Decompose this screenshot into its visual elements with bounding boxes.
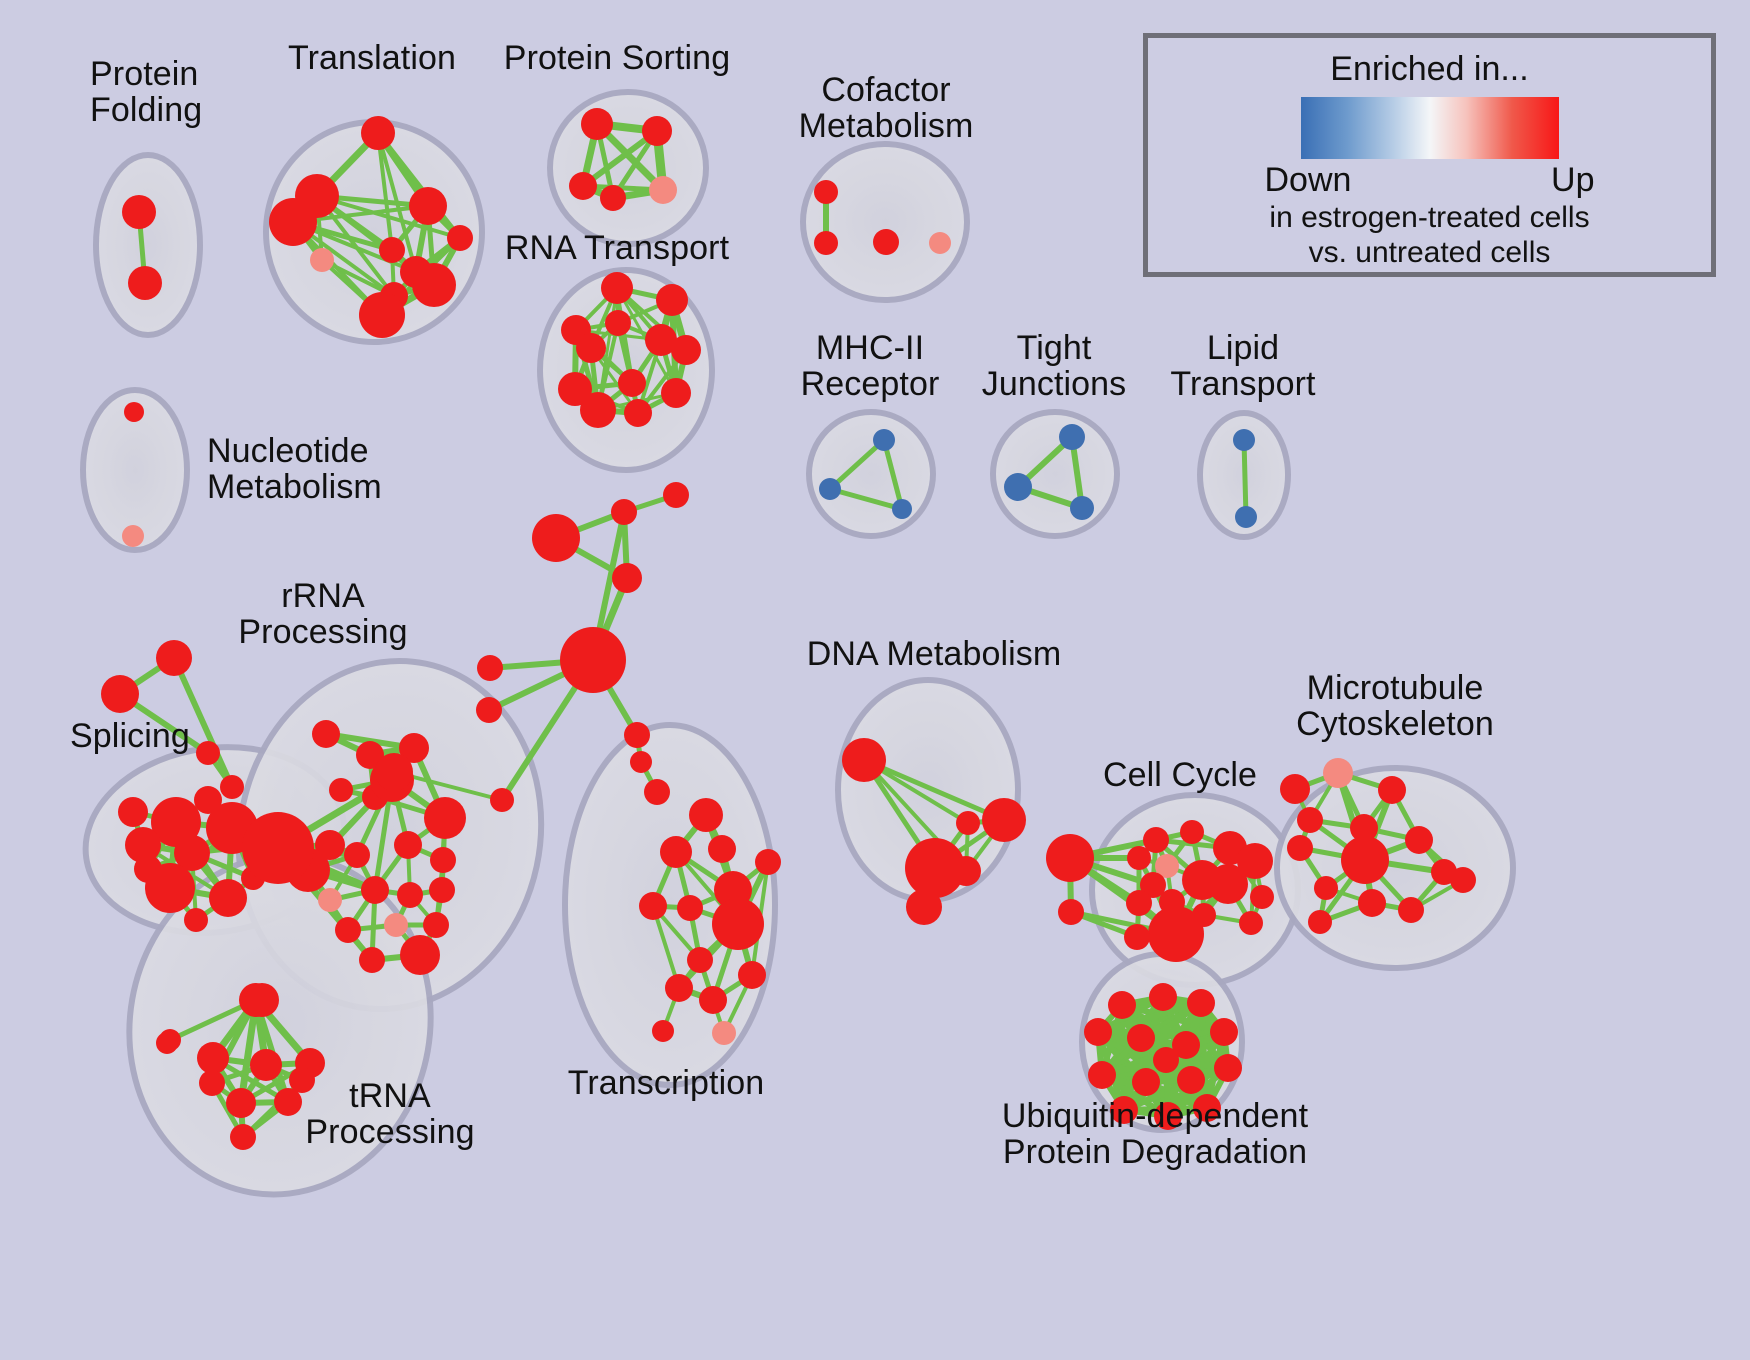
gene-set-node[interactable] (476, 697, 502, 723)
gene-set-node[interactable] (359, 947, 385, 973)
legend-caption-line-1: in estrogen-treated cells (1269, 201, 1589, 235)
cluster-ellipse-protein-folding[interactable] (96, 155, 200, 335)
gene-set-node[interactable] (447, 225, 473, 251)
gene-set-node[interactable] (245, 983, 279, 1017)
gene-set-node[interactable] (412, 263, 456, 307)
gene-set-node[interactable] (906, 889, 942, 925)
cluster-label-microtubule-cytoskeleton: Microtubule Cytoskeleton (1296, 670, 1494, 742)
gene-set-node[interactable] (1378, 776, 1406, 804)
gene-set-node[interactable] (1088, 1061, 1116, 1089)
gene-set-node[interactable] (1084, 1018, 1112, 1046)
gene-set-node[interactable] (1127, 846, 1151, 870)
gene-set-node[interactable] (359, 292, 405, 338)
gene-set-node[interactable] (329, 778, 353, 802)
gene-set-node[interactable] (1250, 885, 1274, 909)
gene-set-node[interactable] (982, 798, 1026, 842)
gene-set-node[interactable] (560, 627, 626, 693)
legend-high-label: Up (1551, 161, 1594, 200)
gene-set-node[interactable] (209, 879, 247, 917)
gene-set-node[interactable] (956, 811, 980, 835)
gene-set-node[interactable] (532, 514, 580, 562)
cluster-ellipse-tight-junctions[interactable] (993, 412, 1117, 536)
gene-set-node[interactable] (361, 876, 389, 904)
gene-set-node[interactable] (312, 720, 340, 748)
gene-set-node[interactable] (656, 284, 688, 316)
gene-set-node[interactable] (814, 180, 838, 204)
gene-set-node[interactable] (1233, 429, 1255, 451)
gene-set-node[interactable] (184, 908, 208, 932)
gene-set-node[interactable] (630, 751, 652, 773)
gene-set-node[interactable] (605, 310, 631, 336)
gene-set-node[interactable] (400, 935, 440, 975)
gene-set-node[interactable] (660, 836, 692, 868)
cluster-label-protein-folding: Protein Folding (90, 56, 202, 128)
gene-set-node[interactable] (1180, 820, 1204, 844)
gene-set-node[interactable] (344, 842, 370, 868)
gene-set-node[interactable] (1235, 506, 1257, 528)
cluster-label-cell-cycle: Cell Cycle (1103, 757, 1257, 793)
gene-set-node[interactable] (1108, 991, 1136, 1019)
gene-set-node[interactable] (699, 986, 727, 1014)
gene-set-node[interactable] (318, 888, 342, 912)
gene-set-node[interactable] (430, 847, 456, 873)
gene-set-node[interactable] (1177, 1066, 1205, 1094)
gene-set-node[interactable] (156, 1032, 178, 1054)
gene-set-node[interactable] (375, 753, 413, 791)
gene-set-node[interactable] (1208, 864, 1248, 904)
gene-set-node[interactable] (576, 333, 606, 363)
gene-set-node[interactable] (738, 961, 766, 989)
gene-set-node[interactable] (122, 195, 156, 229)
gene-set-node[interactable] (689, 798, 723, 832)
cluster-label-nucleotide-metabolism: Nucleotide Metabolism (207, 433, 382, 505)
cluster-label-cofactor-metabolism: Cofactor Metabolism (799, 72, 974, 144)
gene-set-node[interactable] (250, 1049, 282, 1081)
gene-set-node[interactable] (1287, 835, 1313, 861)
gene-set-node[interactable] (101, 675, 139, 713)
gene-set-node[interactable] (618, 369, 646, 397)
gene-set-node[interactable] (269, 198, 317, 246)
gene-set-node[interactable] (1124, 924, 1150, 950)
gene-set-node[interactable] (1323, 758, 1353, 788)
gene-set-node[interactable] (708, 835, 736, 863)
gene-set-node[interactable] (1239, 911, 1263, 935)
cluster-label-mhc-ii-receptor: MHC-II Receptor (801, 330, 940, 402)
gene-set-node[interactable] (951, 856, 981, 886)
gene-set-node[interactable] (1059, 424, 1085, 450)
gene-set-node[interactable] (665, 974, 693, 1002)
gene-set-node[interactable] (1214, 1054, 1242, 1082)
gene-set-node[interactable] (652, 1020, 674, 1042)
cluster-label-dna-metabolism: DNA Metabolism (807, 636, 1062, 672)
cluster-label-trna-processing: tRNA Processing (305, 1078, 474, 1150)
gene-set-node[interactable] (601, 272, 633, 304)
gene-set-node[interactable] (1126, 890, 1152, 916)
cluster-label-protein-sorting: Protein Sorting (504, 40, 730, 76)
gene-set-node[interactable] (1046, 834, 1094, 882)
gene-set-node[interactable] (124, 402, 144, 422)
cluster-ellipse-mhc-ii-receptor[interactable] (809, 412, 933, 536)
cluster-label-rna-transport: RNA Transport (505, 230, 729, 266)
gene-set-node[interactable] (663, 482, 689, 508)
gene-set-node[interactable] (122, 525, 144, 547)
gene-set-node[interactable] (1450, 867, 1476, 893)
gene-set-node[interactable] (819, 478, 841, 500)
gene-set-node[interactable] (642, 116, 672, 146)
gene-set-node[interactable] (397, 882, 423, 908)
gene-set-node[interactable] (649, 176, 677, 204)
legend-bar-endpoints: Down Up (1265, 161, 1595, 200)
gene-set-node[interactable] (929, 232, 951, 254)
cluster-ellipse-protein-sorting[interactable] (550, 92, 706, 244)
legend-low-label: Down (1265, 161, 1352, 200)
gene-set-node[interactable] (1308, 910, 1332, 934)
gene-set-node[interactable] (1398, 897, 1424, 923)
gene-set-node[interactable] (1187, 989, 1215, 1017)
gene-set-node[interactable] (429, 877, 455, 903)
cluster-label-splicing: Splicing (70, 718, 190, 754)
gene-set-node[interactable] (580, 392, 616, 428)
gene-set-node[interactable] (424, 797, 466, 839)
gene-set-node[interactable] (490, 788, 514, 812)
gene-set-node[interactable] (226, 1088, 256, 1118)
gene-set-node[interactable] (379, 237, 405, 263)
gene-set-node[interactable] (199, 1070, 225, 1096)
gene-set-node[interactable] (196, 741, 220, 765)
gene-set-node[interactable] (1358, 889, 1386, 917)
gene-set-node[interactable] (1004, 473, 1032, 501)
gene-set-node[interactable] (134, 855, 162, 883)
enrichment-network-figure: Protein FoldingTranslationProtein Sortin… (0, 0, 1750, 1360)
cluster-label-ubiquitin-protein-degradation: Ubiquitin-dependent Protein Degradation (1002, 1098, 1308, 1170)
gene-set-node[interactable] (242, 812, 314, 884)
cluster-label-lipid-transport: Lipid Transport (1170, 330, 1315, 402)
gene-set-node[interactable] (361, 116, 395, 150)
gene-set-node[interactable] (1297, 807, 1323, 833)
gene-set-node[interactable] (842, 738, 886, 782)
gene-set-node[interactable] (1148, 906, 1204, 962)
gene-set-node[interactable] (661, 378, 691, 408)
gene-set-node[interactable] (1058, 899, 1084, 925)
gene-set-node[interactable] (873, 229, 899, 255)
gene-set-node[interactable] (612, 563, 642, 593)
gene-set-node[interactable] (409, 187, 447, 225)
gene-set-node[interactable] (220, 775, 244, 799)
gene-set-node[interactable] (423, 912, 449, 938)
gene-set-node[interactable] (156, 640, 192, 676)
gene-set-node[interactable] (624, 399, 652, 427)
gene-set-node[interactable] (624, 722, 650, 748)
gene-set-node[interactable] (581, 108, 613, 140)
gene-set-node[interactable] (639, 892, 667, 920)
legend-box: Enriched in... Down Up in estrogen-treat… (1143, 33, 1716, 277)
gene-set-node[interactable] (611, 499, 637, 525)
gene-set-node[interactable] (1405, 826, 1433, 854)
gene-set-node[interactable] (477, 655, 503, 681)
gene-set-node[interactable] (814, 231, 838, 255)
gene-set-node[interactable] (310, 248, 334, 272)
gene-set-node[interactable] (600, 185, 626, 211)
cluster-label-tight-junctions: Tight Junctions (982, 330, 1127, 402)
gene-set-node[interactable] (1341, 836, 1389, 884)
gene-set-node[interactable] (687, 947, 713, 973)
gene-set-node[interactable] (873, 429, 895, 451)
gene-set-node[interactable] (1210, 1018, 1238, 1046)
network-edge (1244, 440, 1246, 517)
legend-color-bar (1301, 97, 1559, 159)
gene-set-node[interactable] (1280, 774, 1310, 804)
gene-set-node[interactable] (1070, 496, 1094, 520)
gene-set-node[interactable] (128, 266, 162, 300)
gene-set-node[interactable] (712, 898, 764, 950)
cluster-label-transcription: Transcription (568, 1065, 765, 1101)
gene-set-node[interactable] (677, 895, 703, 921)
gene-set-node[interactable] (118, 797, 148, 827)
gene-set-node[interactable] (755, 849, 781, 875)
legend-title: Enriched in... (1330, 50, 1528, 89)
cluster-label-translation: Translation (288, 40, 456, 76)
gene-set-node[interactable] (569, 172, 597, 200)
gene-set-node[interactable] (892, 499, 912, 519)
gene-set-node[interactable] (384, 913, 408, 937)
gene-set-node[interactable] (230, 1124, 256, 1150)
cluster-label-rrna-processing: rRNA Processing (238, 578, 407, 650)
gene-set-node[interactable] (1132, 1068, 1160, 1096)
gene-set-node[interactable] (1153, 1047, 1179, 1073)
gene-set-node[interactable] (194, 786, 222, 814)
gene-set-node[interactable] (644, 779, 670, 805)
gene-set-node[interactable] (1149, 983, 1177, 1011)
gene-set-node[interactable] (1314, 876, 1338, 900)
gene-set-node[interactable] (712, 1021, 736, 1045)
gene-set-node[interactable] (1127, 1024, 1155, 1052)
gene-set-node[interactable] (197, 1042, 229, 1074)
gene-set-node[interactable] (335, 917, 361, 943)
gene-set-node[interactable] (394, 831, 422, 859)
gene-set-node[interactable] (671, 335, 701, 365)
legend-caption-line-2: vs. untreated cells (1309, 236, 1551, 270)
